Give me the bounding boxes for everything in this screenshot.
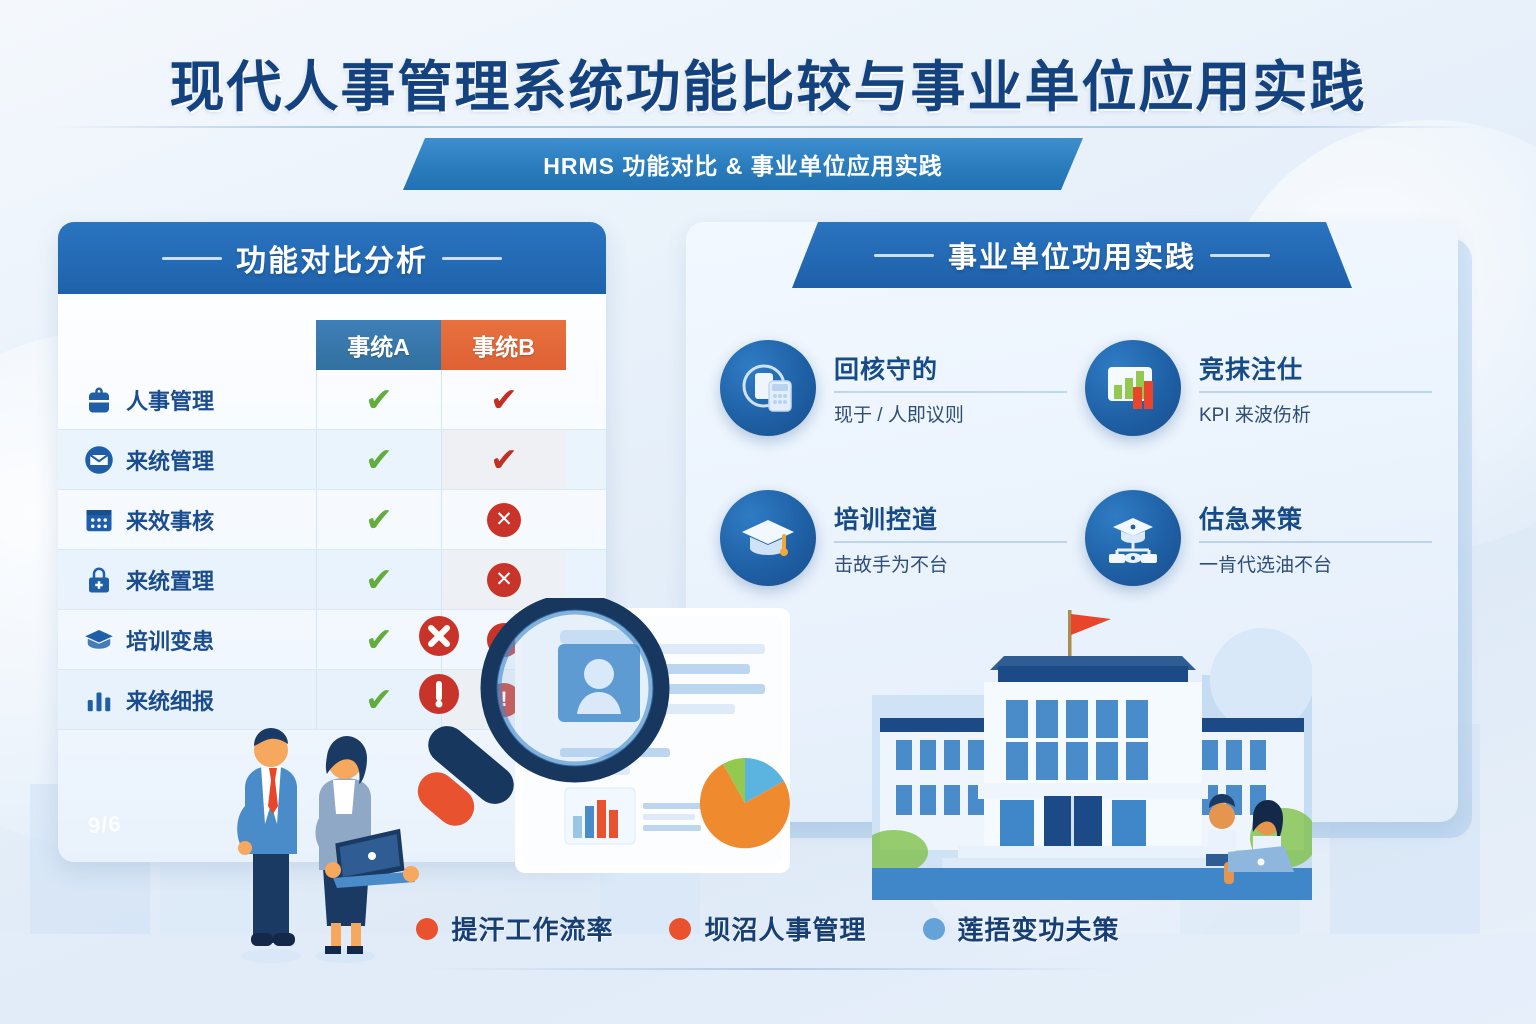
- bar-chart-icon: [1085, 340, 1181, 436]
- legend-dot-icon: [923, 918, 945, 940]
- legend-dot-icon: [416, 918, 438, 940]
- legend-label: 莲捂变功夫策: [958, 910, 1120, 947]
- graduation-cap-glyph: [736, 506, 800, 570]
- feature-card-grid: 回核守的 现于 / 人即议则 竞抹注仕 KPI 来波伤析: [686, 288, 1458, 608]
- title-divider: [50, 126, 1486, 128]
- table-row[interactable]: 来统管理 ✔ ✔: [58, 430, 606, 490]
- graduation-icon: [84, 625, 114, 655]
- dash-left-icon: [162, 257, 222, 260]
- row-label-cell: 来统置理: [58, 564, 316, 596]
- legend-divider: [420, 968, 1120, 970]
- row-label: 培训变患: [126, 624, 214, 656]
- row-label: 人事管理: [126, 384, 214, 416]
- feature-card-title: 回核守的: [834, 350, 1067, 393]
- row-label: 来统管理: [126, 444, 214, 476]
- network-node-glyph: [1101, 506, 1165, 570]
- user-badge-icon: [84, 385, 114, 415]
- feature-card-text: 培训控道 击故手为不台: [834, 500, 1067, 577]
- row-label-cell: 培训变患: [58, 624, 316, 656]
- comparison-panel-title: 功能对比分析: [236, 236, 428, 280]
- lock-plus-icon: [84, 565, 114, 595]
- feature-card-title: 培训控道: [834, 500, 1067, 543]
- document-magnifier-illustration: [415, 598, 845, 898]
- government-building-illustration: [872, 600, 1312, 900]
- page-title: 现代人事管理系统功能比较与事业单位应用实践: [0, 42, 1536, 122]
- table-column-headers: 事统A 事统B: [316, 320, 566, 370]
- attendance-device-icon: [720, 340, 816, 436]
- cross-icon: ✕: [487, 563, 521, 597]
- check-icon: ✔: [365, 563, 393, 596]
- check-icon: ✔: [365, 683, 393, 716]
- cross-icon: ✕: [487, 503, 521, 537]
- feature-card-desc: KPI 来波伤析: [1199, 400, 1432, 427]
- legend-label: 坝沼人事管理: [704, 910, 866, 947]
- screen-watermark: 9/6: [87, 811, 122, 839]
- dash-right-icon: [442, 257, 502, 260]
- legend-dot-icon: [669, 918, 691, 940]
- feature-card[interactable]: 竞抹注仕 KPI 来波伤析: [1085, 318, 1432, 458]
- feature-card-text: 回核守的 现于 / 人即议则: [834, 350, 1067, 427]
- check-icon: ✔: [365, 383, 393, 416]
- check-icon: ✔: [365, 503, 393, 536]
- network-node-icon: [1085, 490, 1181, 586]
- row-label: 来统置理: [126, 564, 214, 596]
- feature-card-text: 竞抹注仕 KPI 来波伤析: [1199, 350, 1432, 427]
- cell-system-a: ✔: [316, 490, 441, 549]
- cell-system-b: ✕: [441, 490, 566, 549]
- column-header-b: 事统B: [441, 320, 566, 370]
- calendar-icon: [84, 505, 114, 535]
- feature-card[interactable]: 培训控道 击故手为不台: [720, 468, 1067, 608]
- application-panel-header: 事业单位功用实践: [792, 222, 1352, 288]
- cell-system-b: ✔: [441, 370, 566, 429]
- feature-card-desc: 现于 / 人即议则: [834, 400, 1067, 427]
- check-icon: ✔: [490, 383, 518, 416]
- bar-chart-icon: [84, 685, 114, 715]
- attendance-device-glyph: [737, 357, 799, 419]
- feature-card-desc: 击故手为不台: [834, 550, 1067, 577]
- feature-card-text: 估急来策 一肯代选油不台: [1199, 500, 1432, 577]
- cell-system-a: ✔: [316, 430, 441, 489]
- subtitle-banner: HRMS 功能对比 & 事业单位应用实践: [403, 138, 1083, 190]
- row-label: 来统细报: [126, 684, 214, 716]
- row-label-cell: 来效事核: [58, 504, 316, 536]
- dash-left-icon: [874, 254, 934, 257]
- row-label-cell: 人事管理: [58, 384, 316, 416]
- feature-card-title: 竞抹注仕: [1199, 350, 1432, 393]
- legend-item[interactable]: 提汗工作流率: [416, 910, 613, 947]
- legend-item[interactable]: 坝沼人事管理: [669, 910, 866, 947]
- cell-system-a: ✔: [316, 370, 441, 429]
- feature-card-title: 估急来策: [1199, 500, 1432, 543]
- feature-card-desc: 一肯代选油不台: [1199, 550, 1432, 577]
- row-label: 来效事核: [126, 504, 214, 536]
- table-row[interactable]: 来效事核 ✔ ✕: [58, 490, 606, 550]
- legend-label: 提汗工作流率: [451, 910, 613, 947]
- row-label-cell: 来统细报: [58, 684, 316, 716]
- row-label-cell: 来统管理: [58, 444, 316, 476]
- feature-card[interactable]: 估急来策 一肯代选油不台: [1085, 468, 1432, 608]
- table-row[interactable]: 人事管理 ✔ ✔: [58, 370, 606, 430]
- dash-right-icon: [1210, 254, 1270, 257]
- check-icon: ✔: [490, 443, 518, 476]
- column-header-a: 事统A: [316, 320, 441, 370]
- cell-system-b: ✔: [441, 430, 566, 489]
- bar-chart-glyph: [1102, 357, 1164, 419]
- comparison-panel-header: 功能对比分析: [58, 222, 606, 294]
- check-icon: ✔: [365, 443, 393, 476]
- application-panel-title: 事业单位功用实践: [948, 234, 1196, 276]
- legend-bar: 提汗工作流率 坝沼人事管理 莲捂变功夫策: [0, 910, 1536, 947]
- feature-card[interactable]: 回核守的 现于 / 人即议则: [720, 318, 1067, 458]
- envelope-icon: [84, 445, 114, 475]
- check-icon: ✔: [365, 623, 393, 656]
- graduation-cap-icon: [720, 490, 816, 586]
- legend-item[interactable]: 莲捂变功夫策: [923, 910, 1120, 947]
